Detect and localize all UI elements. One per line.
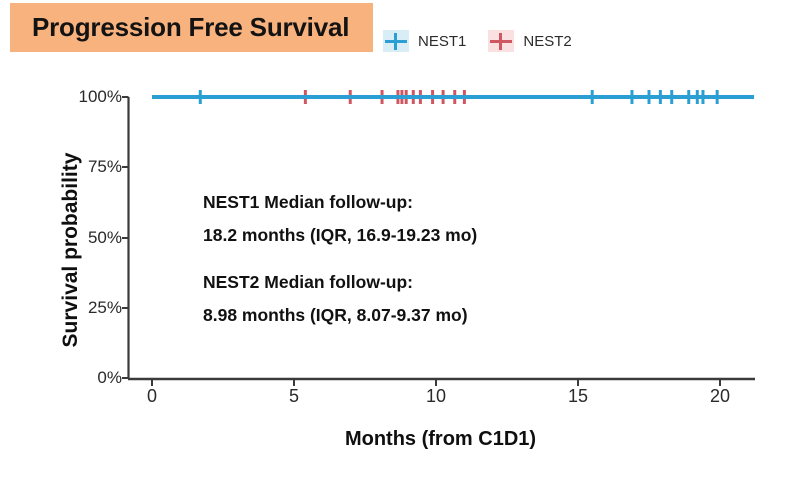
survival-curve-svg — [0, 0, 800, 477]
series-layer — [152, 90, 754, 104]
chart-plot-area: Survival probability Months (from C1D1) … — [0, 0, 800, 477]
series-nest1 — [152, 90, 754, 104]
